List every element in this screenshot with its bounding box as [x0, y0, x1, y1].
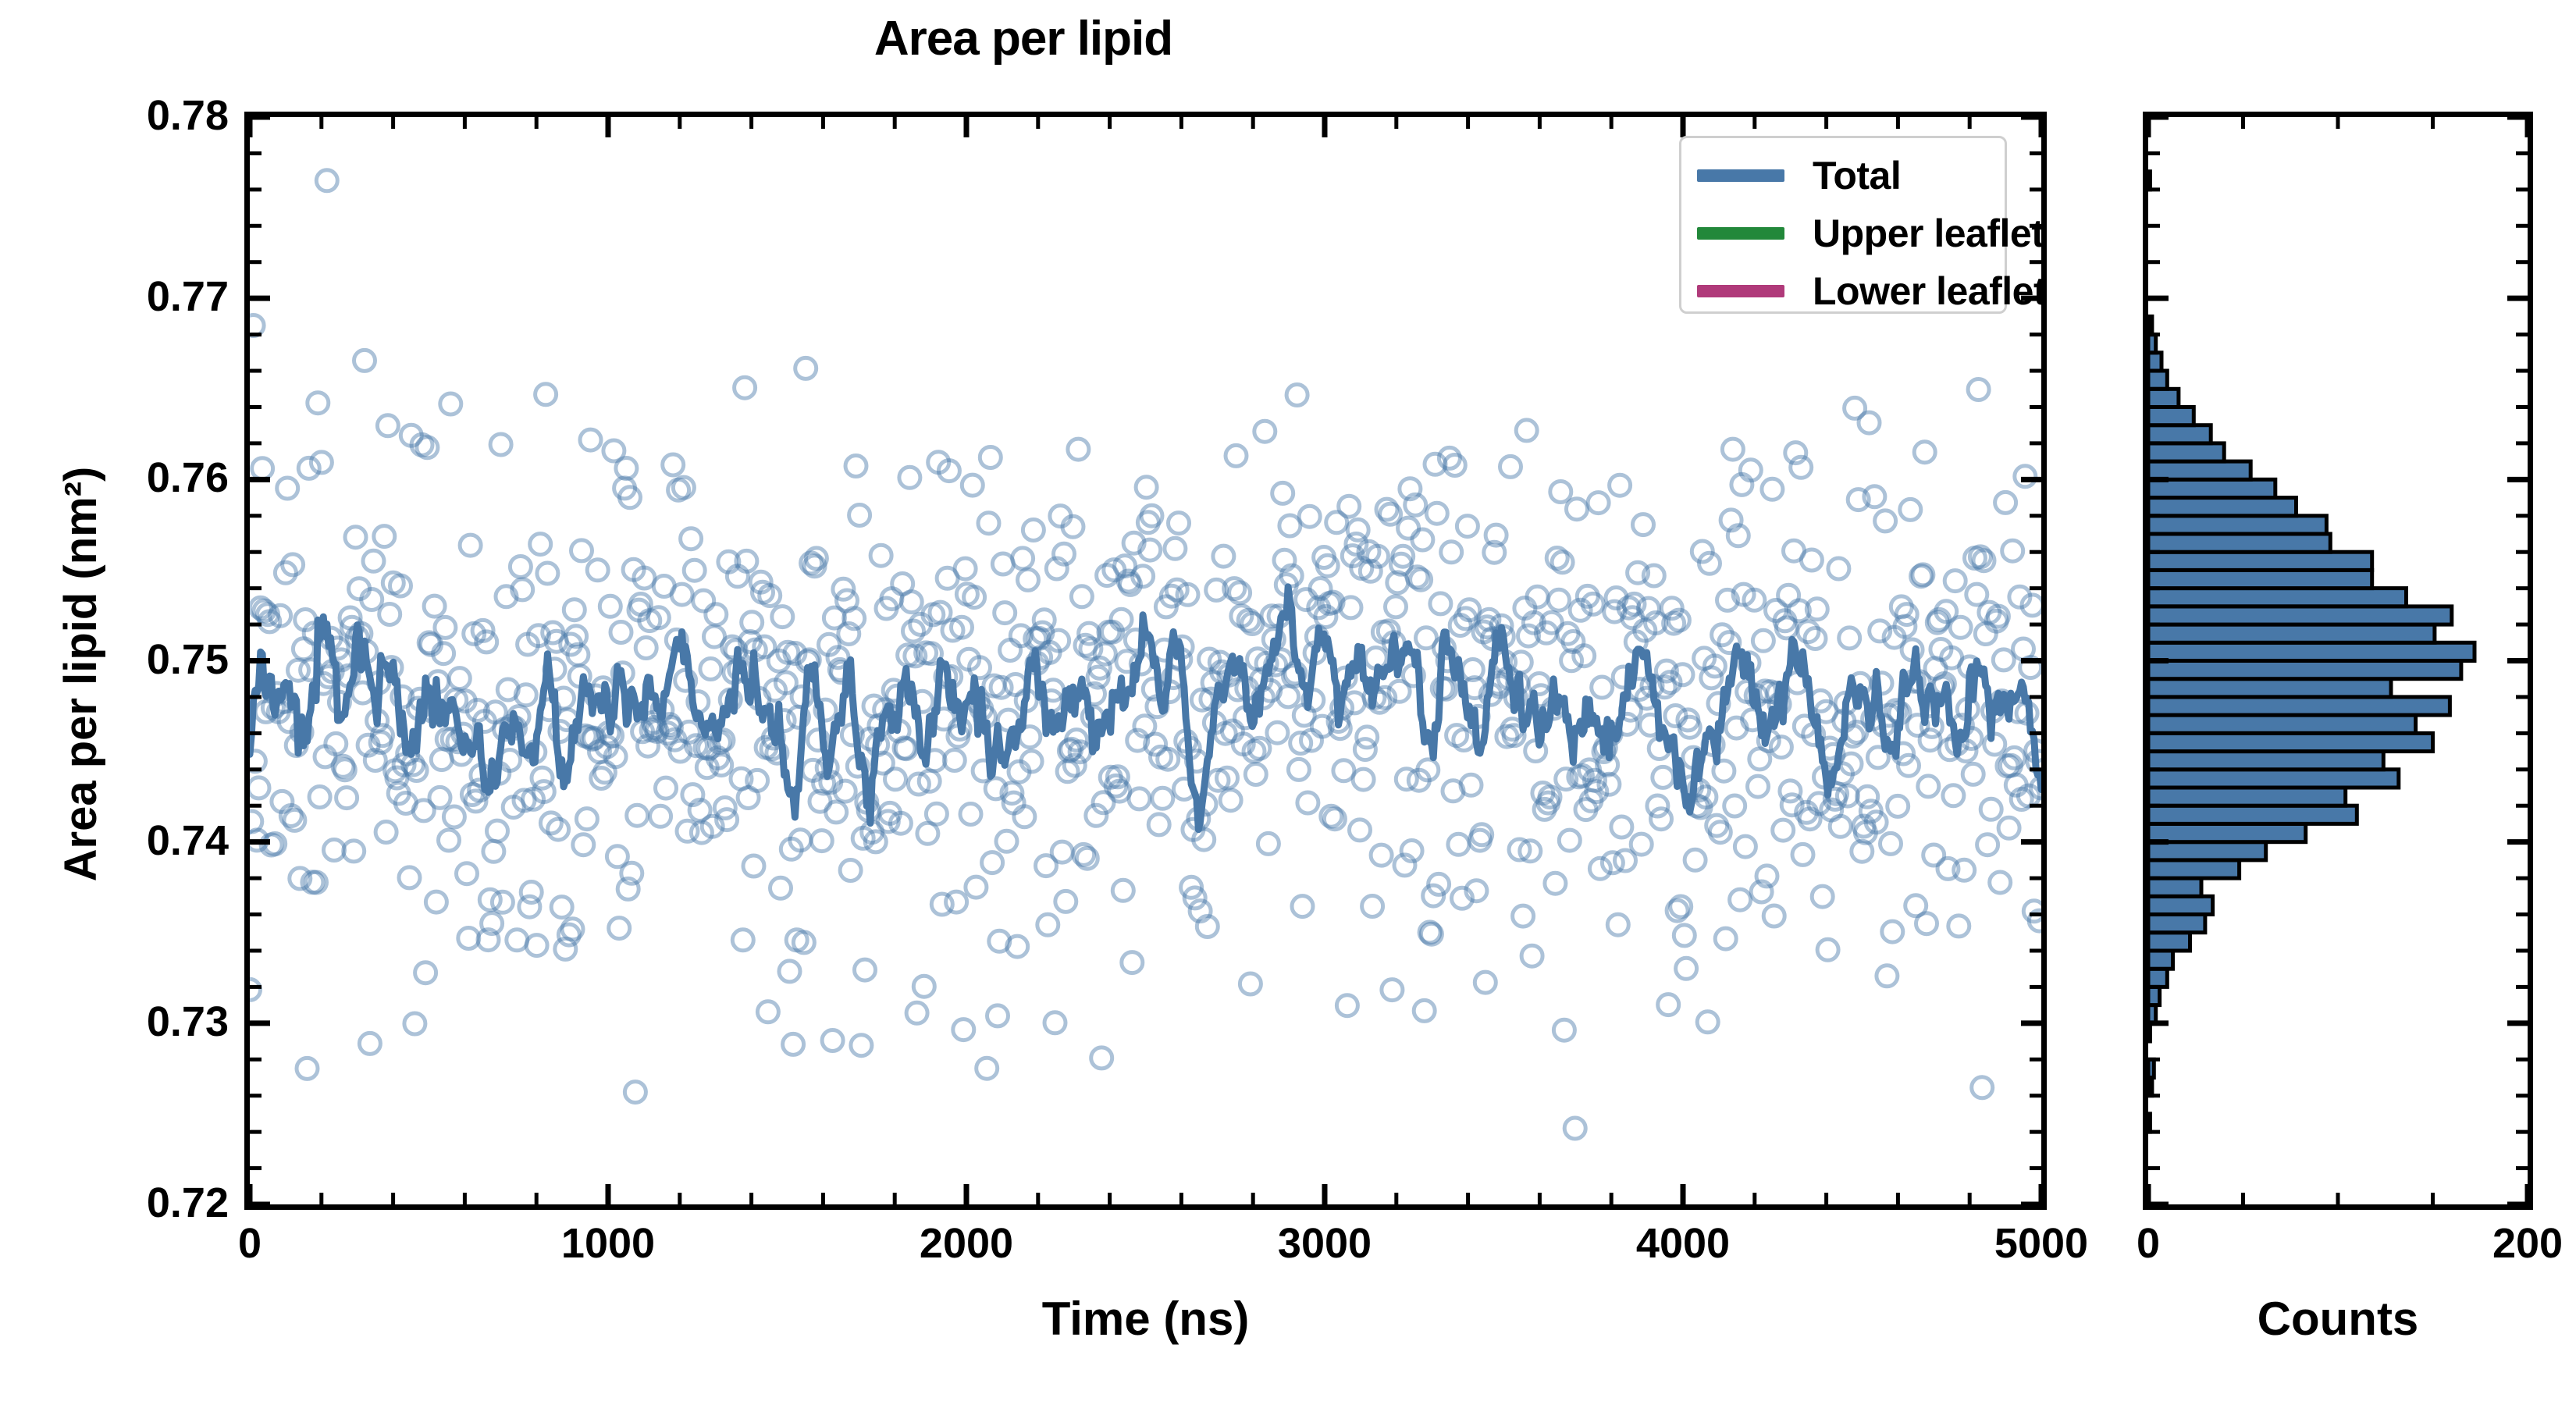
legend-item-upper-leaflet[interactable]: Upper leaflet [1697, 210, 1989, 257]
histogram-x-tick-label: 0 [2047, 1219, 2250, 1268]
legend-label-total: Total [1813, 153, 1901, 198]
y-tick-label: 0.73 [10, 998, 229, 1046]
legend[interactable]: Total Upper leaflet Lower leaflet [1679, 136, 2007, 314]
legend-label-lower-leaflet: Lower leaflet [1813, 269, 2046, 314]
y-tick-label: 0.78 [10, 91, 229, 140]
histogram-x-tick-label: 200 [2426, 1219, 2576, 1268]
x-axis-label: Time (ns) [244, 1292, 2047, 1346]
legend-swatch-total [1697, 169, 1784, 182]
figure-title: Area per lipid [0, 11, 2047, 66]
y-tick-label: 0.75 [10, 635, 229, 684]
legend-item-lower-leaflet[interactable]: Lower leaflet [1697, 268, 1989, 315]
y-tick-label: 0.77 [10, 272, 229, 321]
figure-canvas: Area per lipid Area per lipid (nm²) Tota… [0, 0, 2576, 1405]
x-tick-label: 3000 [1208, 1219, 1442, 1268]
histogram-x-axis-label: Counts [2143, 1292, 2533, 1346]
x-tick-label: 4000 [1566, 1219, 1800, 1268]
x-tick-label: 2000 [849, 1219, 1083, 1268]
histogram-axes [2143, 112, 2533, 1210]
y-tick-label: 0.76 [10, 454, 229, 502]
histogram-bars [2148, 172, 2475, 1132]
histogram-svg [2148, 117, 2528, 1204]
legend-item-total[interactable]: Total [1697, 152, 1989, 199]
legend-swatch-upper-leaflet [1697, 227, 1784, 240]
x-tick-label: 1000 [491, 1219, 725, 1268]
y-tick-label: 0.74 [10, 816, 229, 865]
legend-label-upper-leaflet: Upper leaflet [1813, 211, 2044, 256]
scatter-markers [250, 170, 2041, 1139]
legend-swatch-lower-leaflet [1697, 285, 1784, 297]
x-tick-label: 0 [133, 1219, 367, 1268]
